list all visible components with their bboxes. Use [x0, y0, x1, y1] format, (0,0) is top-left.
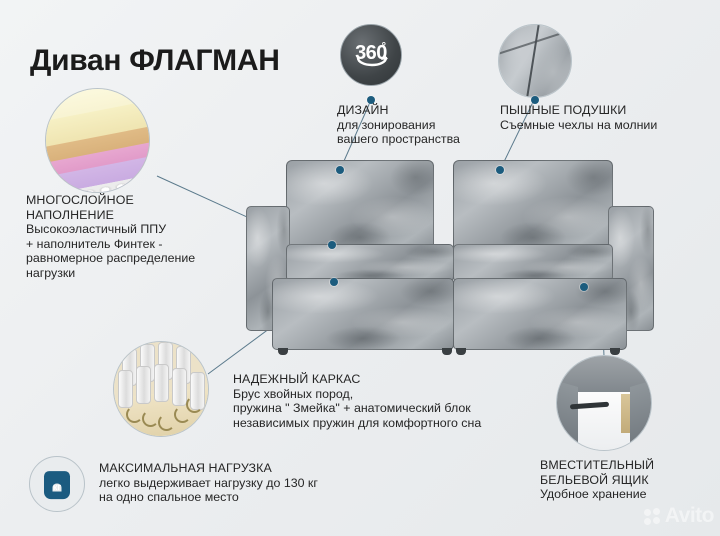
sofa-product-image — [250, 140, 650, 370]
sofa-leg-center-right — [456, 348, 466, 355]
storage-side-left — [557, 381, 578, 451]
feature-max-load-line1: легко выдерживает нагрузку до 130 кг — [99, 476, 318, 491]
feature-max-load: МАКСИМАЛЬНАЯ НАГРУЗКА легко выдерживает … — [99, 461, 318, 505]
callout-dot-sofa-seat — [330, 278, 338, 286]
pocket-spring — [172, 368, 187, 406]
feature-pillows-heading: ПЫШНЫЕ ПОДУШКИ — [500, 103, 657, 118]
storage-support-stick — [621, 394, 630, 433]
serpentine-spring — [142, 410, 159, 427]
feature-frame: НАДЕЖНЫЙ КАРКАС Брус хвойных пород, пруж… — [233, 372, 481, 430]
feature-filling-line1: Высокоэластичный ППУ — [26, 222, 195, 237]
page-title: Диван ФЛАГМАН — [30, 44, 280, 78]
feature-filling-heading-2: НАПОЛНЕНИЕ — [26, 208, 195, 223]
feature-filling-line4: нагрузки — [26, 266, 195, 281]
avito-logo-icon — [644, 508, 661, 525]
pillow-closeup-circle — [498, 24, 572, 98]
storage-box-circle — [556, 355, 652, 451]
sofa-seat-top-right — [453, 244, 613, 282]
sofa-seat-top-left — [286, 244, 454, 282]
rotate-arrow-icon — [346, 30, 398, 82]
callout-dot-sofa-arm — [328, 241, 336, 249]
feature-filling-line3: равномерное распределение — [26, 251, 195, 266]
feature-frame-line2: пружина " Змейка" + анатомический блок — [233, 401, 481, 416]
sofa-seat-front-left — [272, 278, 454, 350]
sofa-leg-left — [278, 348, 288, 355]
spring-block-circle — [113, 341, 209, 437]
feature-frame-line3: независимых пружин для комфортного сна — [233, 416, 481, 431]
feature-storage: ВМЕСТИТЕЛЬНЫЙ БЕЛЬЕВОЙ ЯЩИК Удобное хран… — [540, 458, 654, 502]
feature-filling-heading-1: МНОГОСЛОЙНОЕ — [26, 193, 195, 208]
feature-storage-heading-2: БЕЛЬЕВОЙ ЯЩИК — [540, 473, 654, 488]
feature-storage-heading-1: ВМЕСТИТЕЛЬНЫЙ — [540, 458, 654, 473]
feature-filling: МНОГОСЛОЙНОЕ НАПОЛНЕНИЕ Высокоэластичный… — [26, 193, 195, 281]
feature-design-heading: ДИЗАЙН — [337, 103, 460, 118]
callout-dot-sofa-storage — [580, 283, 588, 291]
feature-design-line1: для зонирования — [337, 118, 460, 133]
sofa-back-cushion-right — [453, 160, 613, 252]
feature-frame-heading: НАДЕЖНЫЙ КАРКАС — [233, 372, 481, 387]
feature-pillows-line1: Съемные чехлы на молнии — [500, 118, 657, 133]
weight-icon-label: кг — [53, 482, 61, 492]
serpentine-spring — [158, 414, 175, 431]
serpentine-spring — [186, 396, 203, 413]
callout-dot-sofa-back-left — [336, 166, 344, 174]
filling-layer-stack — [46, 89, 149, 192]
infographic-canvas: Диван ФЛАГМАН 360 ° ДИЗАЙН для зонирован… — [0, 0, 720, 536]
feature-storage-line1: Удобное хранение — [540, 487, 654, 502]
sofa-leg-center-left — [442, 348, 452, 355]
avito-watermark-text: Avito — [665, 504, 714, 528]
avito-watermark: Avito — [644, 504, 714, 528]
feature-filling-line2: + наполнитель Финтек - — [26, 237, 195, 252]
pocket-spring — [136, 366, 151, 404]
feature-pillows: ПЫШНЫЕ ПОДУШКИ Съемные чехлы на молнии — [500, 103, 657, 132]
sofa-back-cushion-left — [286, 160, 434, 252]
filling-layers-circle — [45, 88, 150, 193]
feature-frame-line1: Брус хвойных пород, — [233, 387, 481, 402]
feature-max-load-line2: на одно спальное место — [99, 490, 318, 505]
rotate-360-badge[interactable]: 360 ° — [340, 24, 402, 86]
sofa-seat-front-right — [453, 278, 627, 350]
weight-icon: кг — [29, 456, 85, 512]
serpentine-spring — [126, 406, 143, 423]
pocket-spring — [118, 370, 133, 408]
sofa-leg-right — [610, 348, 620, 355]
pocket-spring — [154, 364, 169, 402]
feature-max-load-heading: МАКСИМАЛЬНАЯ НАГРУЗКА — [99, 461, 318, 476]
callout-dot-sofa-back-right — [496, 166, 504, 174]
storage-side-right — [630, 381, 651, 451]
